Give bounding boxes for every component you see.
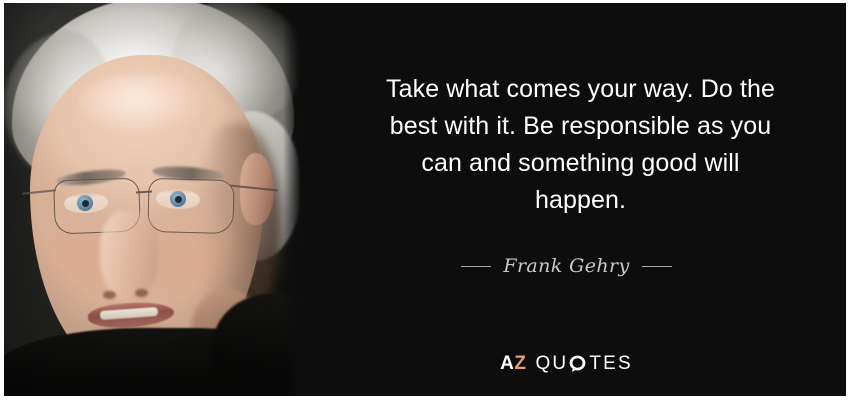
logo-letter-a: A bbox=[500, 353, 514, 374]
logo-quotes-text: QU TES bbox=[535, 354, 632, 373]
quote-text-panel: Take what comes your way. Do the best wi… bbox=[301, 3, 846, 396]
quote-line: happen. bbox=[341, 182, 820, 219]
lens-right bbox=[147, 178, 234, 234]
quote-line: Take what comes your way. Do the bbox=[341, 71, 820, 108]
attribution-dash-left bbox=[461, 266, 491, 267]
forehead-highlight bbox=[78, 73, 208, 135]
az-quotes-logo[interactable]: AZ QU TES bbox=[301, 354, 832, 373]
card-inner: Take what comes your way. Do the best wi… bbox=[4, 3, 846, 396]
nose-shape bbox=[100, 211, 158, 301]
attribution-author-name[interactable]: Frank Gehry bbox=[503, 255, 629, 277]
author-portrait-image bbox=[4, 3, 301, 396]
attribution-dash-right bbox=[642, 266, 672, 267]
logo-quotes-part-2: TES bbox=[589, 354, 633, 373]
quote-text: Take what comes your way. Do the best wi… bbox=[341, 71, 820, 219]
nostril-left bbox=[103, 291, 116, 299]
speech-bubble-icon bbox=[569, 355, 586, 372]
author-photo-panel bbox=[4, 3, 301, 396]
attribution: Frank Gehry bbox=[301, 255, 832, 277]
logo-az-text: AZ bbox=[500, 354, 526, 373]
logo-quotes-part-1: QU bbox=[535, 354, 568, 373]
nostril-right bbox=[135, 289, 148, 297]
quote-line: best with it. Be responsible as you bbox=[341, 108, 820, 145]
quote-card: Take what comes your way. Do the best wi… bbox=[0, 0, 850, 400]
logo-letter-z: Z bbox=[514, 353, 526, 374]
quote-line: can and something good will bbox=[341, 145, 820, 182]
